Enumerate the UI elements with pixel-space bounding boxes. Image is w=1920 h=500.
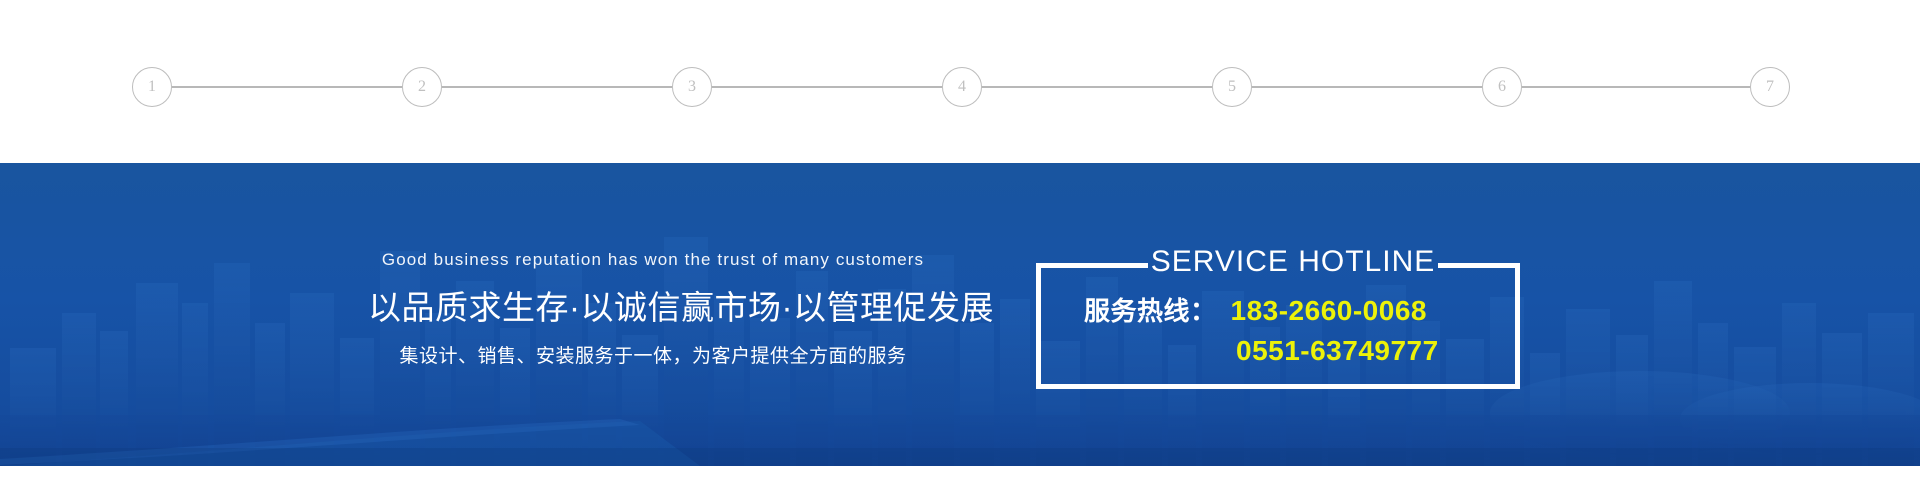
hotline-row-secondary: 0551-63749777 — [1036, 335, 1520, 379]
stepper-node-2[interactable]: 2 — [402, 67, 442, 107]
step-line-6-7 — [1522, 86, 1750, 88]
hotline-title: SERVICE HOTLINE — [1148, 245, 1438, 279]
hotline-border-top-right — [1438, 263, 1520, 268]
step-line-3-4 — [712, 86, 942, 88]
stepper-node-3[interactable]: 3 — [672, 67, 712, 107]
stepper-bar: 1 2 3 4 5 6 7 — [0, 0, 1920, 163]
hotline-row-primary: 服务热线： 183-2660-0068 — [1036, 291, 1520, 335]
banner-bottom-strip — [0, 448, 1920, 466]
stepper-node-5[interactable]: 5 — [1212, 67, 1252, 107]
stepper-node-4[interactable]: 4 — [942, 67, 982, 107]
stepper-node-7[interactable]: 7 — [1750, 67, 1790, 107]
hotline-rows: 服务热线： 183-2660-0068 0551-63749777 — [1036, 291, 1520, 379]
slogan-english: Good business reputation has won the tru… — [368, 248, 938, 272]
slogan-subline: 集设计、销售、安装服务于一体，为客户提供全方面的服务 — [368, 342, 938, 372]
hotline-border-bottom — [1036, 384, 1520, 389]
hotline-box: SERVICE HOTLINE 服务热线： 183-2660-0068 0551… — [1036, 263, 1520, 389]
stepper-track: 1 2 3 4 5 6 7 — [132, 67, 1790, 107]
hotline-number-secondary[interactable]: 0551-63749777 — [1236, 335, 1439, 367]
slogan-block: Good business reputation has won the tru… — [368, 248, 938, 372]
promo-banner: Good business reputation has won the tru… — [0, 163, 1920, 466]
hotline-border-top-left — [1036, 263, 1148, 268]
hotline-label: 服务热线： — [1084, 291, 1217, 328]
step-line-5-6 — [1252, 86, 1482, 88]
stepper-node-1[interactable]: 1 — [132, 67, 172, 107]
stepper-node-6[interactable]: 6 — [1482, 67, 1522, 107]
step-line-1-2 — [172, 86, 402, 88]
step-line-2-3 — [442, 86, 672, 88]
slogan-headline: 以品质求生存·以诚信赢市场·以管理促发展 — [368, 282, 938, 334]
step-line-4-5 — [982, 86, 1212, 88]
hotline-number-primary[interactable]: 183-2660-0068 — [1231, 295, 1427, 327]
